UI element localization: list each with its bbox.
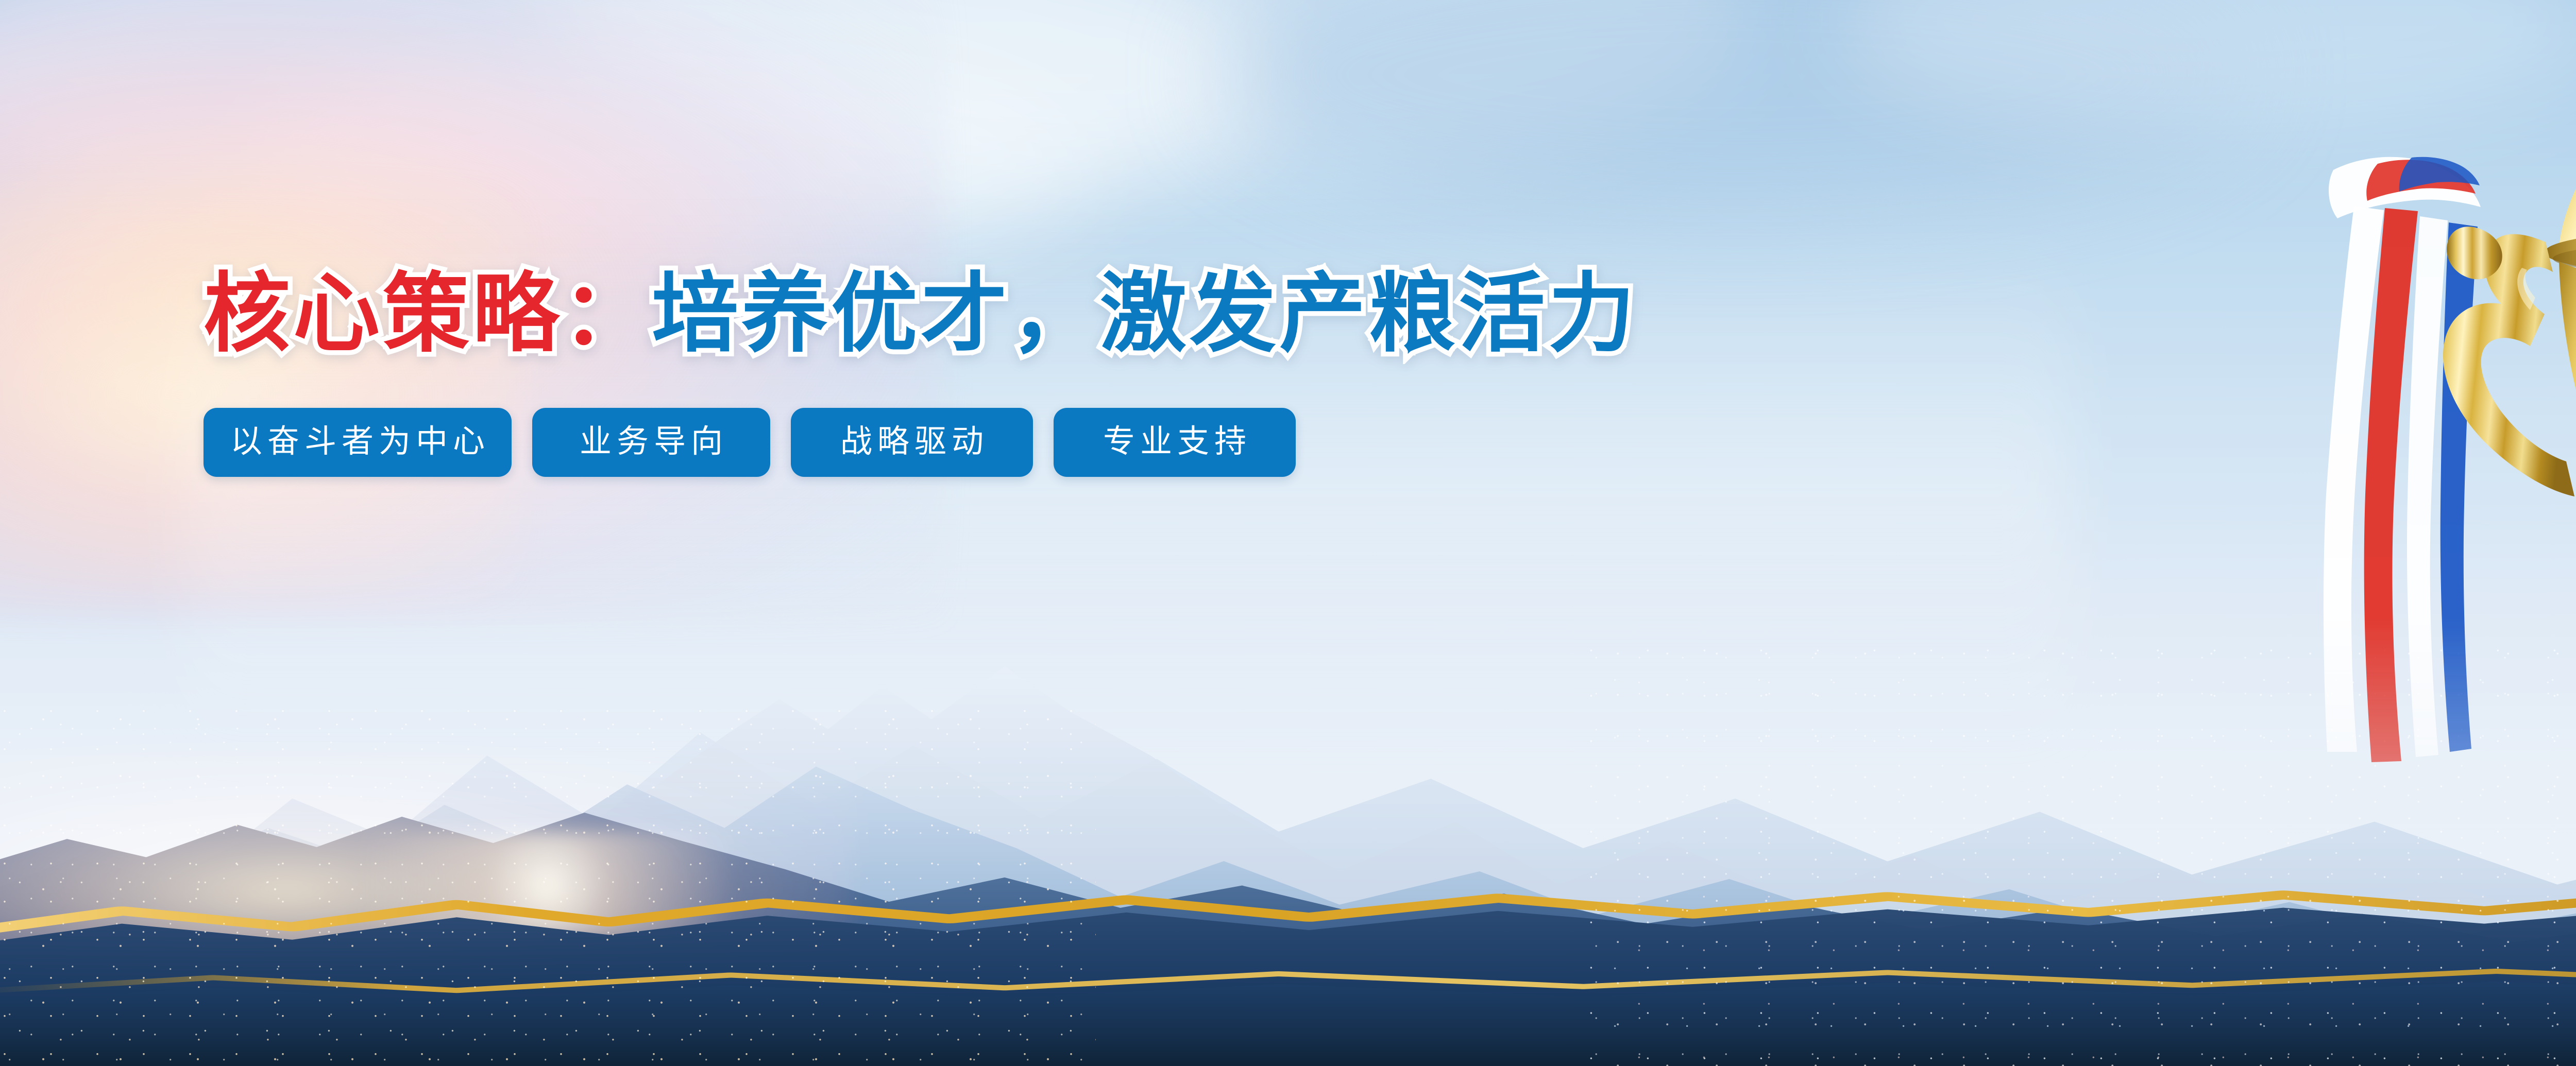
sky-background <box>0 0 2576 1066</box>
tag-button-3[interactable]: 专业支持 <box>1054 408 1296 477</box>
banner-content: 核心策略：培养优才，激发产粮活力 以奋斗者为中心 业务导向 战略驱动 专业支持 <box>204 268 2172 477</box>
headline-blue-part: 培养优才，激发产粮活力 <box>652 263 1638 364</box>
tag-row: 以奋斗者为中心 业务导向 战略驱动 专业支持 <box>204 408 2172 477</box>
headline-red-part: 核心策略： <box>204 263 652 364</box>
tag-button-2[interactable]: 战略驱动 <box>791 408 1033 477</box>
tag-button-1[interactable]: 业务导向 <box>532 408 770 477</box>
hero-banner: 核心策略：培养优才，激发产粮活力 以奋斗者为中心 业务导向 战略驱动 专业支持 <box>0 0 2576 1066</box>
tag-button-0[interactable]: 以奋斗者为中心 <box>204 408 512 477</box>
page-title: 核心策略：培养优才，激发产粮活力 <box>204 268 2172 359</box>
